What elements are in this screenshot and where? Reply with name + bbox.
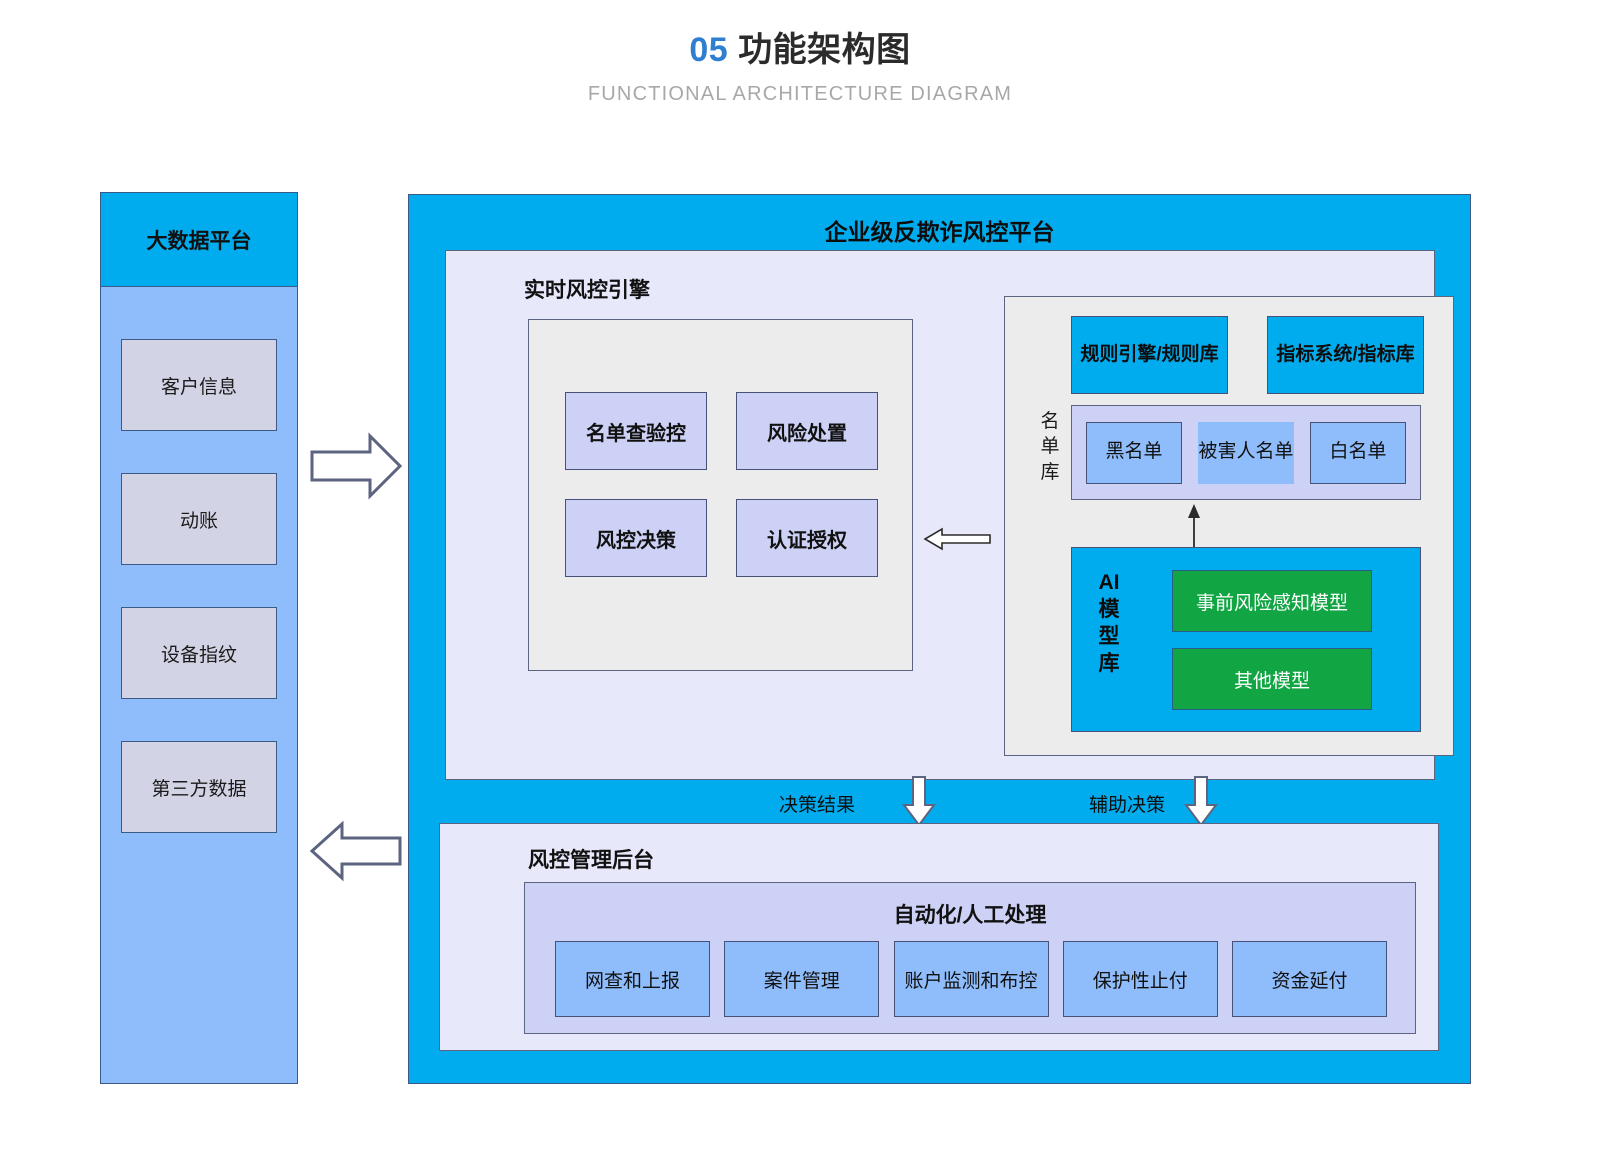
indicator-system-indicator-library-box[interactable]: 指标系统/指标库	[1267, 316, 1424, 394]
decision-result-label: 决策结果	[779, 790, 855, 817]
realtime-risk-engine-label: 实时风控引擎	[524, 274, 650, 304]
auto-cell-fund-deferred-payment[interactable]: 资金延付	[1232, 941, 1387, 1017]
ai-model-other[interactable]: 其他模型	[1172, 648, 1372, 710]
auto-cell-protective-stop-payment[interactable]: 保护性止付	[1063, 941, 1218, 1017]
engine-cell-auth-authorization[interactable]: 认证授权	[736, 499, 878, 577]
risk-management-backstage-label: 风控管理后台	[528, 844, 654, 874]
arrow-down-block-decision-icon	[901, 775, 937, 827]
engine-function-grid: 名单查验控 风险处置 风控决策 认证授权	[565, 392, 891, 577]
big-data-platform-title: 大数据平台	[101, 193, 297, 287]
sidebar-item-third-party-data[interactable]: 第三方数据	[121, 741, 277, 833]
arrow-left-block-icon	[306, 820, 404, 882]
rules-models-panel: 规则引擎/规则库 指标系统/指标库 名单库 黑名单 被害人名单 白名单 名单识别…	[1004, 296, 1454, 756]
platform-title: 企业级反欺诈风控平台	[409, 213, 1470, 247]
list-cell-whitelist[interactable]: 白名单	[1310, 422, 1406, 484]
page-subtitle: FUNCTIONAL ARCHITECTURE DIAGRAM	[0, 83, 1600, 106]
arrow-down-block-assist-icon	[1183, 775, 1219, 827]
page-title-chinese: 功能架构图	[738, 31, 911, 69]
rule-engine-rule-library-box[interactable]: 规则引擎/规则库	[1071, 316, 1228, 394]
big-data-platform-items: 客户信息 动账 设备指纹 第三方数据	[101, 287, 297, 833]
sidebar-item-device-fingerprint[interactable]: 设备指纹	[121, 607, 277, 699]
sidebar-item-account-movement[interactable]: 动账	[121, 473, 277, 565]
assist-decision-label: 辅助决策	[1089, 790, 1165, 817]
page-title-number: 05	[689, 31, 728, 69]
arrow-left-thin-icon	[922, 527, 994, 551]
ai-model-library-label: AI模型库	[1092, 570, 1126, 678]
sidebar-item-customer-info[interactable]: 客户信息	[121, 339, 277, 431]
realtime-risk-engine-panel: 实时风控引擎 名单查验控 风险处置 风控决策 认证授权 规则引擎/规则库 指标系…	[445, 250, 1435, 780]
automation-manual-row: 网查和上报 案件管理 账户监测和布控 保护性止付 资金延付	[555, 941, 1387, 1017]
arrow-up-thin-icon	[1183, 502, 1205, 550]
list-cell-victim-list[interactable]: 被害人名单	[1198, 422, 1294, 484]
engine-cell-risk-decision[interactable]: 风控决策	[565, 499, 707, 577]
ai-model-library-box: AI模型库 事前风险感知模型 其他模型	[1071, 547, 1421, 732]
auto-cell-online-check-report[interactable]: 网查和上报	[555, 941, 710, 1017]
page-title: 05 功能架构图	[0, 30, 1600, 71]
engine-function-box: 名单查验控 风险处置 风控决策 认证授权	[528, 319, 913, 671]
engine-cell-risk-disposal[interactable]: 风险处置	[736, 392, 878, 470]
arrow-right-block-icon	[308, 430, 404, 502]
ai-model-pre-risk-perception[interactable]: 事前风险感知模型	[1172, 570, 1372, 632]
automation-manual-box: 自动化/人工处理 网查和上报 案件管理 账户监测和布控 保护性止付 资金延付	[524, 882, 1416, 1034]
ai-model-list: 事前风险感知模型 其他模型	[1172, 570, 1372, 726]
list-library-label: 名单库	[1037, 409, 1063, 485]
auto-cell-case-management[interactable]: 案件管理	[724, 941, 879, 1017]
auto-cell-account-monitoring[interactable]: 账户监测和布控	[894, 941, 1049, 1017]
anti-fraud-platform: 企业级反欺诈风控平台 实时风控引擎 名单查验控 风险处置 风控决策 认证授权 规…	[408, 194, 1471, 1084]
engine-cell-list-verification[interactable]: 名单查验控	[565, 392, 707, 470]
list-cell-blacklist[interactable]: 黑名单	[1086, 422, 1182, 484]
page-title-block: 05 功能架构图 FUNCTIONAL ARCHITECTURE DIAGRAM	[0, 30, 1600, 106]
automation-manual-title: 自动化/人工处理	[525, 899, 1415, 929]
rules-indicators-row: 规则引擎/规则库 指标系统/指标库	[1071, 316, 1435, 394]
big-data-platform-panel: 大数据平台 客户信息 动账 设备指纹 第三方数据	[100, 192, 298, 1084]
list-library-box: 黑名单 被害人名单 白名单	[1071, 405, 1421, 500]
risk-management-backstage-panel: 风控管理后台 自动化/人工处理 网查和上报 案件管理 账户监测和布控 保护性止付…	[439, 823, 1439, 1051]
